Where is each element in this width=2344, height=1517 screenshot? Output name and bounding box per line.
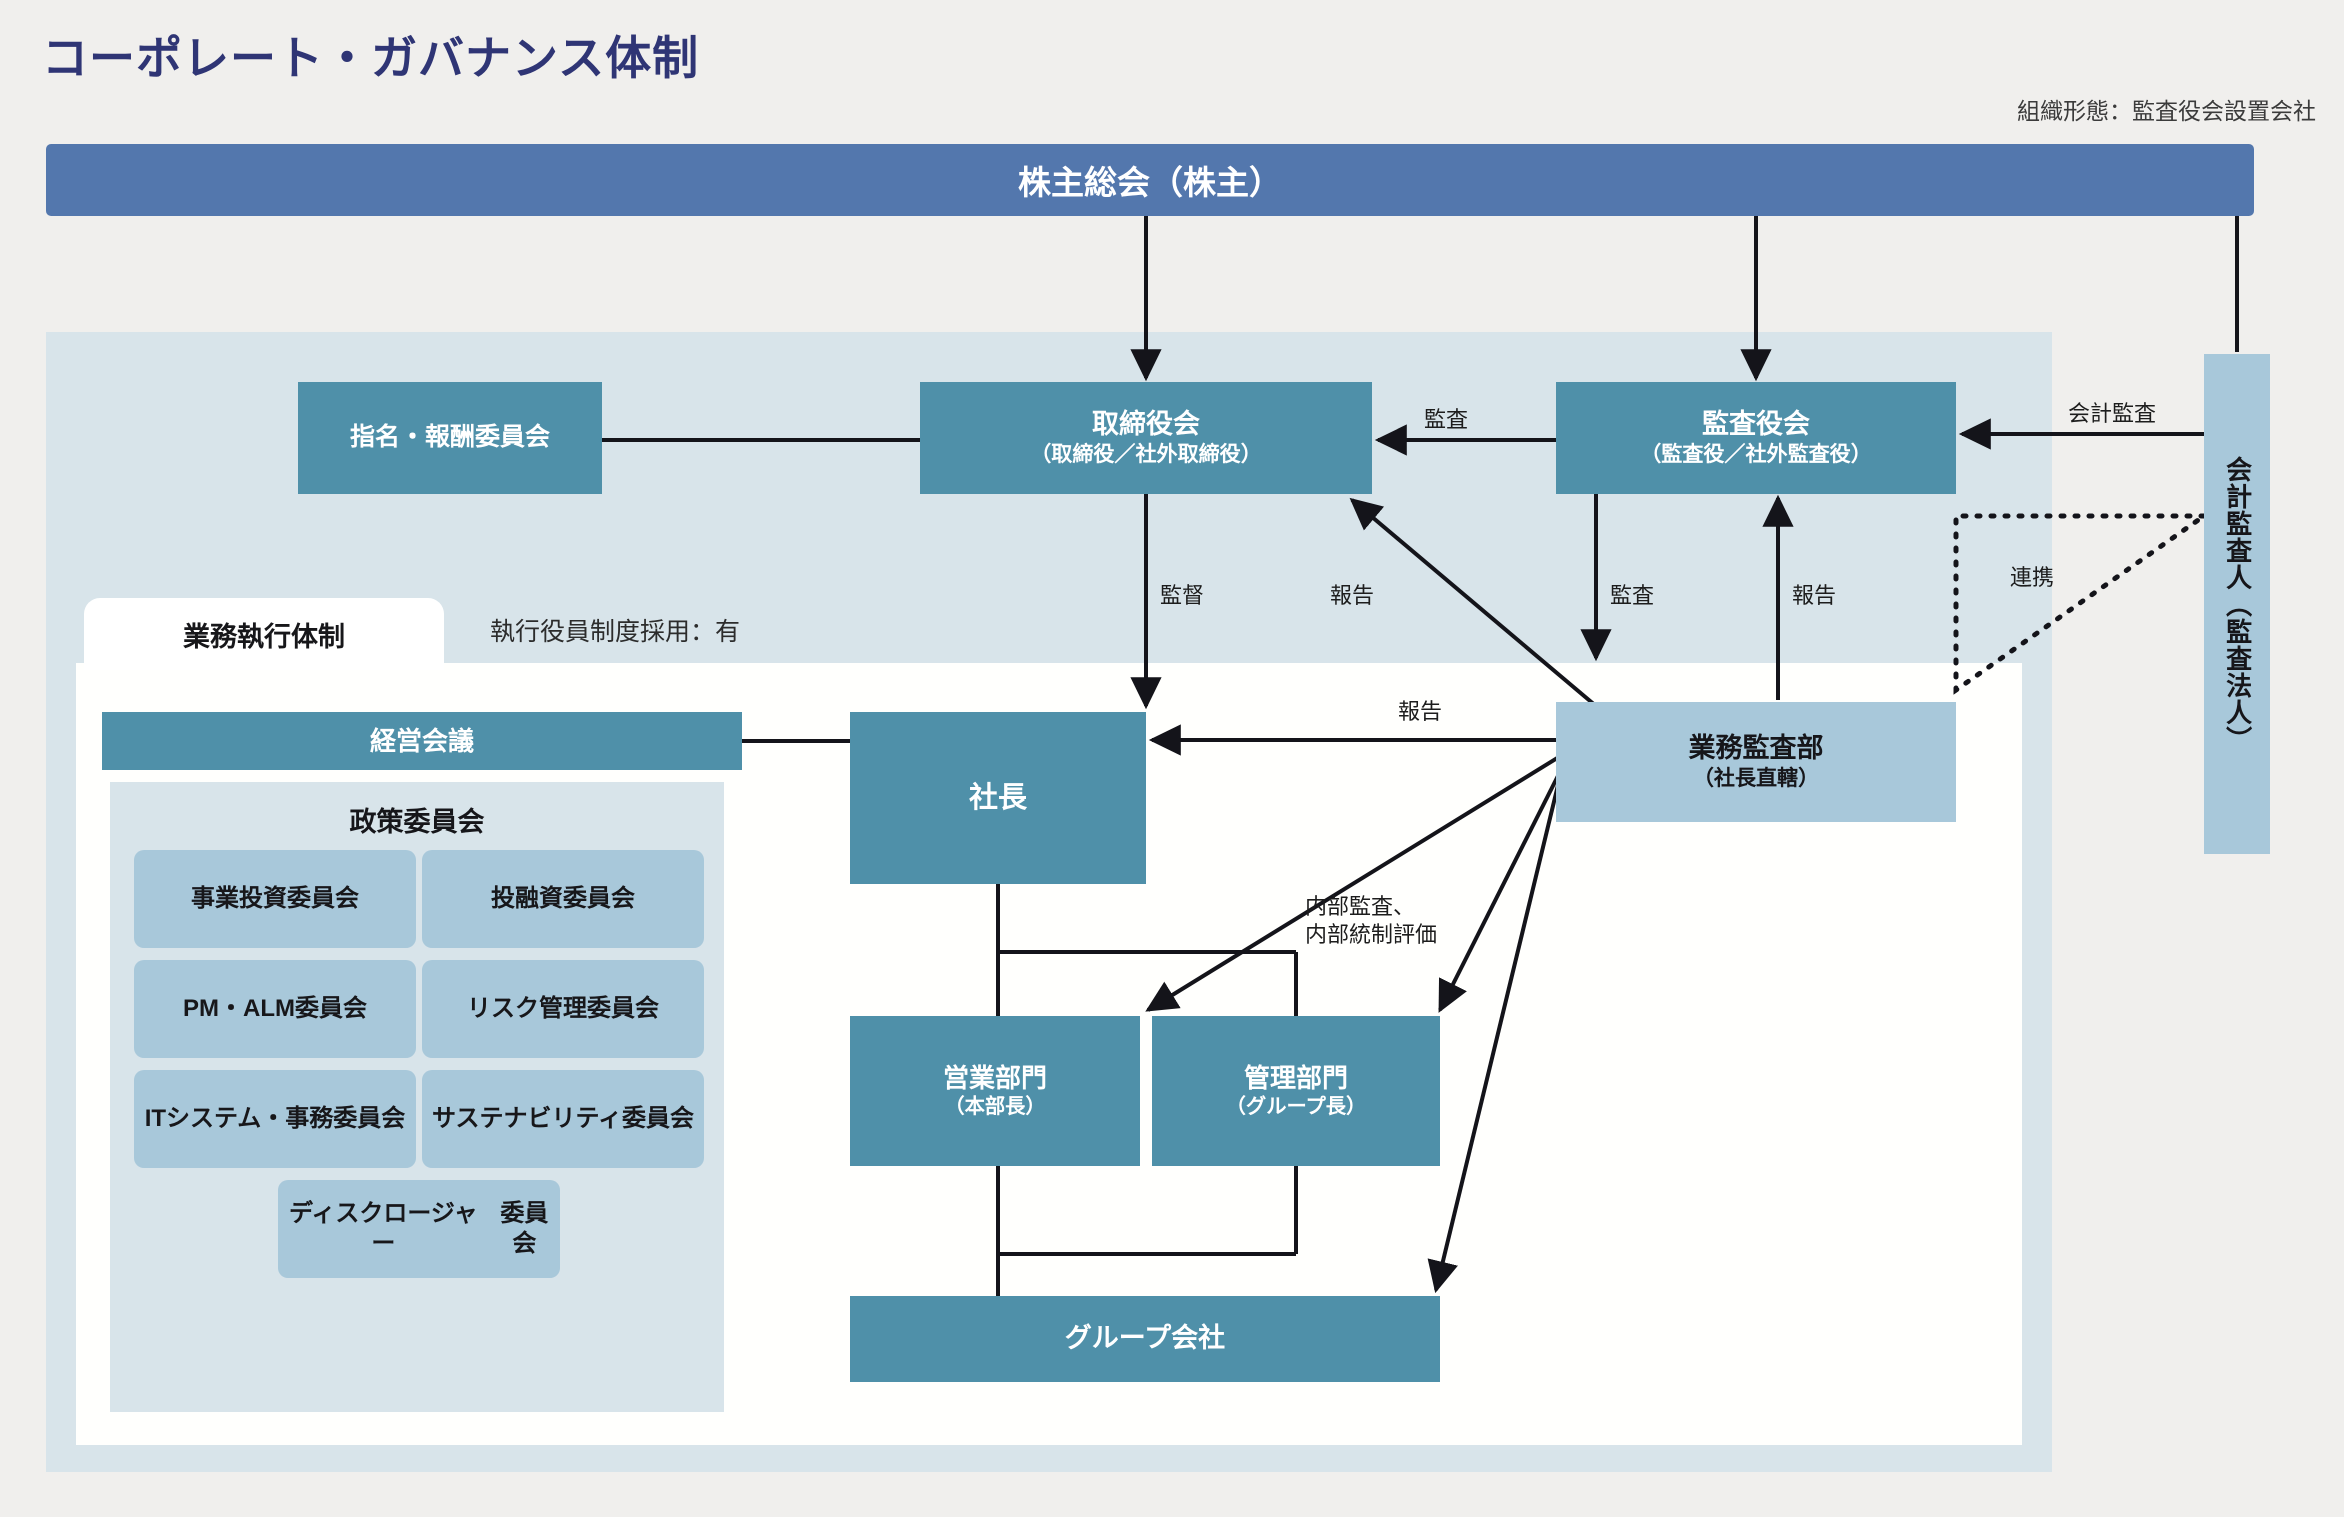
admin-division-subtitle: （グループ長） (1226, 1095, 1367, 1120)
audit-department-title: 業務監査部 (1689, 732, 1824, 766)
management-meeting-box: 経営会議 (102, 712, 742, 770)
policy-committee-item: ディスクロージャー委員会 (278, 1180, 560, 1278)
page-title: コーポレート・ガバナンス体制 (42, 22, 699, 88)
president-box: 社長 (850, 712, 1146, 884)
policy-committee-item: PM・ALM委員会 (134, 960, 416, 1058)
edge-label-internal-audit: 内部監査、内部統制評価 (1305, 893, 1437, 948)
edge-label-supervise: 監督 (1160, 578, 1204, 610)
auditors-title: 監査役会 (1702, 408, 1810, 442)
nomination-committee-label: 指名・報酬委員会 (350, 422, 550, 453)
policy-committee-grid: 事業投資委員会投融資委員会PM・ALM委員会リスク管理委員会ITシステム・事務委… (134, 850, 704, 1278)
nomination-compensation-committee-box: 指名・報酬委員会 (298, 382, 602, 494)
board-of-directors-box: 取締役会 （取締役／社外取締役） (920, 382, 1372, 494)
edge-label-accounting-audit: 会計監査 (2068, 396, 2156, 428)
executive-officer-system-note: 執行役員制度採用：有 (490, 612, 740, 648)
shareholders-meeting-box: 株主総会（株主） (46, 144, 2254, 216)
policy-committee-item: 事業投資委員会 (134, 850, 416, 948)
edge-label-auditors-report: 報告 (1792, 578, 1836, 610)
internal-audit-department-box: 業務監査部 （社長直轄） (1556, 702, 1956, 822)
board-of-auditors-box: 監査役会 （監査役／社外監査役） (1556, 382, 1956, 494)
policy-committee-item: サステナビリティ委員会 (422, 1070, 704, 1168)
board-subtitle: （取締役／社外取締役） (1030, 442, 1262, 468)
policy-committee-item: 投融資委員会 (422, 850, 704, 948)
audit-department-subtitle: （社長直轄） (1693, 766, 1819, 792)
sales-division-title: 営業部門 (943, 1062, 1047, 1095)
edge-label-audit-report: 報告 (1398, 694, 1442, 726)
admin-division-box: 管理部門 （グループ長） (1152, 1016, 1440, 1166)
business-execution-tab: 業務執行体制 (84, 598, 444, 670)
sales-division-box: 営業部門 （本部長） (850, 1016, 1140, 1166)
admin-division-title: 管理部門 (1244, 1062, 1348, 1095)
board-title: 取締役会 (1092, 408, 1200, 442)
edge-label-auditors-audit: 監査 (1610, 578, 1654, 610)
group-company-box: グループ会社 (850, 1296, 1440, 1382)
governance-diagram: コーポレート・ガバナンス体制 組織形態：監査役会設置会社 株主総会（株主） 業務… (0, 0, 2344, 1517)
edge-label-board-report: 報告 (1330, 578, 1374, 610)
accounting-auditor-box: 会計監査人（監査法人） (2204, 354, 2270, 854)
policy-committee-item: ITシステム・事務委員会 (134, 1070, 416, 1168)
edge-label-cooperation: 連携 (2010, 560, 2054, 592)
sales-division-subtitle: （本部長） (944, 1095, 1045, 1120)
policy-committee-item: リスク管理委員会 (422, 960, 704, 1058)
organization-form-label: 組織形態：監査役会設置会社 (2017, 92, 2316, 126)
auditors-subtitle: （監査役／社外監査役） (1640, 442, 1872, 468)
edge-label-audit-to-board: 監査 (1424, 402, 1468, 434)
policy-committee-title: 政策委員会 (110, 800, 724, 839)
